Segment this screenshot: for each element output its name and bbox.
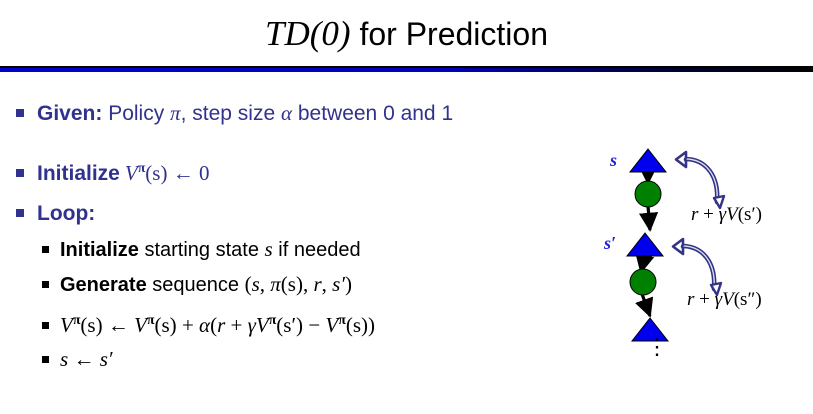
pi-symbol: π	[170, 101, 181, 125]
state-node-triangle-sprime	[627, 233, 663, 256]
action-node-circle-2	[630, 269, 656, 295]
slide-body: Given: Policy π, step size α between 0 a…	[16, 98, 596, 379]
sub-bullet-initialize-state: Initialize starting state s if needed	[42, 235, 596, 265]
bullet-initialize: InitializeVπ(s) ← 0	[16, 153, 596, 189]
state-var: s	[265, 237, 273, 261]
sub-bullet-initialize-text: Initialize starting state s if needed	[60, 235, 361, 265]
backup-label-2: r + γV(s″)	[687, 289, 762, 311]
loop-sub-list: Initialize starting state s if needed Ge…	[42, 235, 596, 374]
bullet-given: Given: Policy π, step size α between 0 a…	[16, 98, 596, 129]
action-node-circle-1	[635, 181, 661, 207]
initialize-equation: Vπ(s) ← 0	[125, 161, 210, 185]
bullet-initialize-text: InitializeVπ(s) ← 0	[37, 153, 209, 189]
diagram-label-s: s	[610, 150, 617, 171]
sub-bullet-update-rule: Vπ(s) ← Vπ(s) + α(r + γVπ(s′) − Vπ(s))	[42, 305, 596, 340]
td-update-equation: Vπ(s) ← Vπ(s) + α(r + γVπ(s′) − Vπ(s))	[60, 305, 375, 340]
title-divider	[0, 68, 813, 72]
bullet-loop: Loop:	[16, 199, 596, 229]
bullet-square-icon	[16, 169, 24, 177]
backup-arrow-2	[673, 239, 721, 295]
diagram-ellipsis: ⋮	[646, 342, 668, 352]
bullet-square-icon	[42, 322, 49, 329]
bullet-square-icon	[42, 281, 49, 288]
sub-bullet-generate-text: Generate sequence (s, π(s), r, s′)	[60, 270, 352, 300]
bullet-square-icon	[42, 356, 49, 363]
sub-bullet-generate: Generate sequence (s, π(s), r, s′)	[42, 270, 596, 300]
generate-tuple: (s, π(s), r, s′)	[245, 272, 352, 296]
sub-bullet-state-assign: s ← s′	[42, 345, 596, 374]
title-plain-part: for Prediction	[351, 16, 548, 52]
backup-arrow-1	[676, 152, 724, 208]
transition-arrow-4	[642, 294, 650, 316]
backup-diagram: s s′ r + γV(s′) r + γV(s″) ⋮	[588, 132, 813, 372]
diagram-label-s-prime: s′	[604, 233, 616, 254]
alpha-symbol: α	[281, 101, 292, 125]
bullet-square-icon	[16, 209, 24, 217]
bullet-square-icon	[16, 109, 24, 117]
state-node-triangle-s	[630, 149, 666, 172]
bullet-loop-text: Loop:	[37, 199, 95, 229]
backup-label-1: r + γV(s′)	[691, 204, 762, 226]
transition-arrow-2	[648, 206, 650, 230]
bullet-square-icon	[42, 246, 49, 253]
state-assignment: s ← s′	[60, 345, 112, 374]
backup-diagram-svg	[588, 132, 813, 372]
page-title: TD(0) for Prediction	[0, 12, 813, 56]
title-math-part: TD(0)	[265, 14, 351, 53]
bullet-given-text: Given: Policy π, step size α between 0 a…	[37, 98, 453, 129]
